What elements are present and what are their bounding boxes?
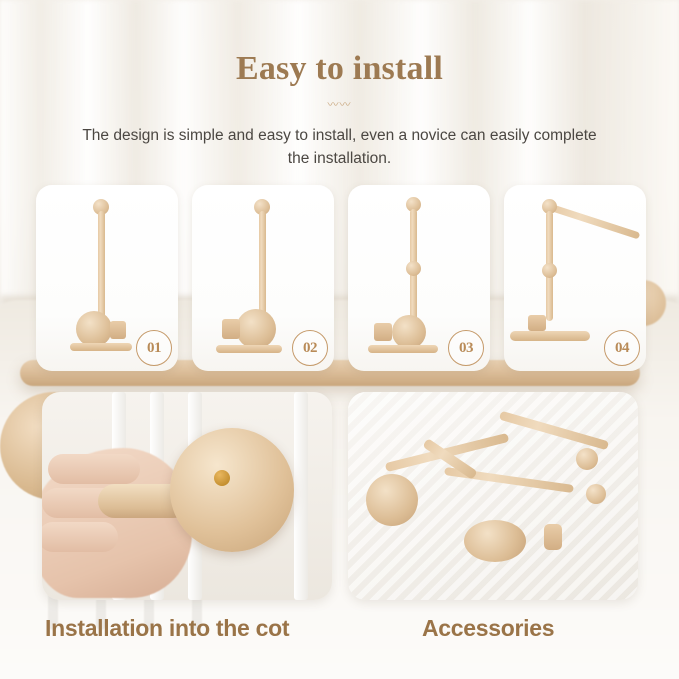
brass-screw-icon <box>214 470 230 486</box>
vertical-rod <box>98 211 105 321</box>
part-collar <box>544 524 562 550</box>
base-plate <box>368 345 438 353</box>
finger <box>42 522 118 552</box>
page-title: Easy to install <box>0 50 679 88</box>
base-plate <box>70 343 132 351</box>
part-round-plate <box>464 520 526 562</box>
caption-installation: Installation into the cot <box>45 615 289 642</box>
step-card-04: 04 <box>504 185 646 371</box>
step-card-row: 01 02 03 04 <box>36 185 646 371</box>
title-divider-icon: 〰〰 <box>0 96 679 112</box>
base-plate <box>216 345 282 353</box>
collar-part <box>374 323 392 341</box>
slider-bead-icon <box>542 263 557 278</box>
wooden-disc <box>236 309 276 349</box>
caption-accessories: Accessories <box>422 615 554 642</box>
wooden-disc <box>392 315 426 349</box>
slider-bead-icon <box>406 261 421 276</box>
step-card-02: 02 <box>192 185 334 371</box>
step-card-01: 01 <box>36 185 178 371</box>
accessories-photo-panel <box>348 392 638 600</box>
step-number-badge: 04 <box>604 330 640 366</box>
mobile-arm <box>547 203 640 239</box>
step-number-badge: 03 <box>448 330 484 366</box>
wooden-disc <box>76 311 112 347</box>
part-ball <box>586 484 606 504</box>
step-number-badge: 01 <box>136 330 172 366</box>
wooden-knob <box>170 428 294 552</box>
collar-part <box>528 315 546 331</box>
vertical-rod <box>259 211 266 321</box>
part-ball <box>576 448 598 470</box>
collar-part <box>110 321 126 339</box>
step-card-03: 03 <box>348 185 490 371</box>
crib-slat <box>294 392 308 600</box>
part-disc-base <box>366 474 418 526</box>
installation-photo-panel <box>42 392 332 600</box>
subtitle-text: The design is simple and easy to install… <box>78 124 601 170</box>
collar-part <box>222 319 240 339</box>
step-number-badge: 02 <box>292 330 328 366</box>
product-infographic: Easy to install 〰〰 The design is simple … <box>0 0 679 679</box>
base-plate <box>510 331 590 341</box>
finger <box>48 454 140 484</box>
